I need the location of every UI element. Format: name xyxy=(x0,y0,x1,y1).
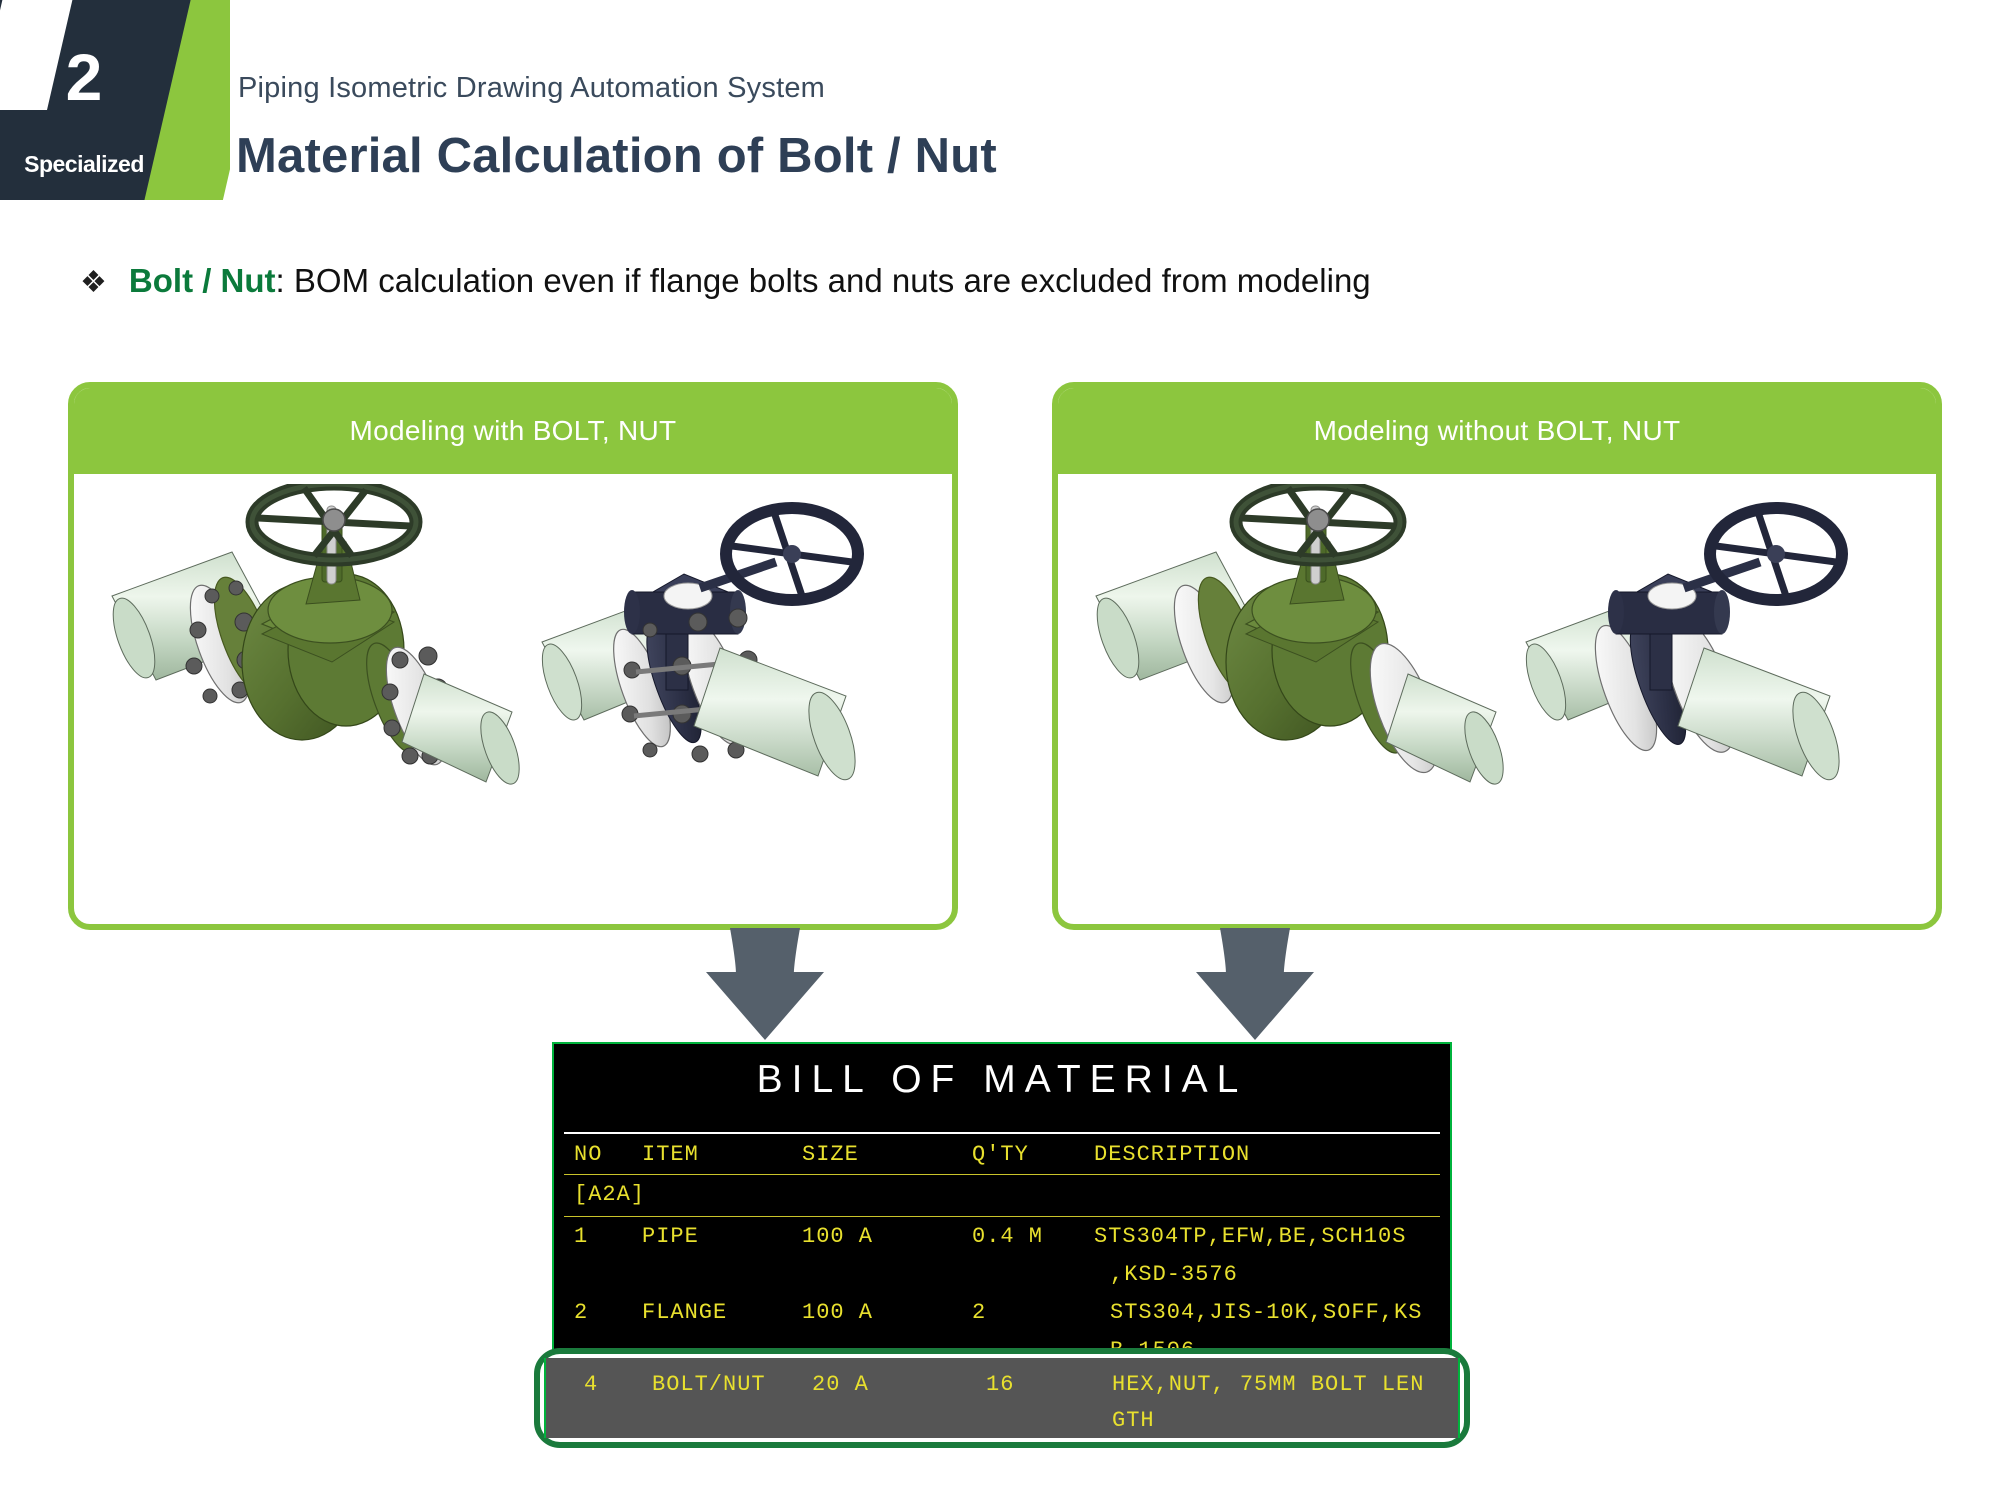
bom-cell-no: 4 xyxy=(584,1372,598,1397)
bom-title-divider xyxy=(564,1132,1440,1134)
bom-cell-desc-line2: GTH xyxy=(1112,1408,1155,1433)
bom-col-size: SIZE xyxy=(802,1142,859,1167)
bom-cell-desc: STS304TP,EFW,BE,SCH10S xyxy=(1094,1224,1406,1249)
bullet-text: : BOM calculation even if flange bolts a… xyxy=(276,262,1371,300)
bom-col-item: ITEM xyxy=(642,1142,699,1167)
bom-col-no: NO xyxy=(574,1142,602,1167)
flanged-valve-with-bolts-illustration xyxy=(524,492,934,812)
bom-cell-size: 100 A xyxy=(802,1224,873,1249)
bom-col-desc: DESCRIPTION xyxy=(1094,1142,1250,1167)
badge-label: Specialized xyxy=(0,152,168,176)
bom-divider-1 xyxy=(564,1174,1440,1175)
page-header: 2 Specialized Piping Isometric Drawing A… xyxy=(0,0,2000,200)
bom-cell-desc-line2: ,KSD-3576 xyxy=(1110,1262,1238,1287)
bom-title: BILL OF MATERIAL xyxy=(554,1058,1450,1102)
bolt-nut-row-band: 4 BOLT/NUT 20 A 16 HEX,NUT, 75MM BOLT LE… xyxy=(544,1358,1460,1438)
badge-number: 2 xyxy=(0,44,168,110)
bom-cell-no: 2 xyxy=(574,1300,588,1325)
bom-cell-no: 1 xyxy=(574,1224,588,1249)
gate-valve-with-bolts-illustration xyxy=(94,484,524,814)
header-eyebrow: Piping Isometric Drawing Automation Syst… xyxy=(238,72,825,105)
diamond-bullet-icon: ❖ xyxy=(80,268,107,298)
bom-cell-item: BOLT/NUT xyxy=(652,1372,766,1397)
panel-modeling-without-bolt-nut: Modeling without BOLT, NUT xyxy=(1052,382,1942,930)
bom-cell-size: 100 A xyxy=(802,1300,873,1325)
bom-group-label: [A2A] xyxy=(574,1182,645,1207)
section-badge: 2 Specialized xyxy=(0,0,230,200)
bom-cell-qty: 2 xyxy=(972,1300,986,1325)
panel-modeling-with-bolt-nut: Modeling with BOLT, NUT xyxy=(68,382,958,930)
bom-cell-qty: 0.4 M xyxy=(972,1224,1043,1249)
panel-right-body xyxy=(1058,474,1936,924)
panel-right-header: Modeling without BOLT, NUT xyxy=(1058,388,1936,474)
bom-cell-size: 20 A xyxy=(812,1372,869,1397)
gate-valve-without-bolts-illustration xyxy=(1078,484,1508,814)
bom-divider-2 xyxy=(564,1216,1440,1217)
bom-cell-item: PIPE xyxy=(642,1224,699,1249)
panel-left-title: Modeling with BOLT, NUT xyxy=(350,415,677,447)
page-title: Material Calculation of Bolt / Nut xyxy=(236,128,997,184)
arrow-down-left-icon xyxy=(690,928,840,1043)
bom-cell-desc: STS304,JIS-10K,SOFF,KS xyxy=(1110,1300,1422,1325)
bom-cell-desc: HEX,NUT, 75MM BOLT LEN xyxy=(1112,1372,1424,1397)
bullet-keyword: Bolt / Nut xyxy=(129,262,276,300)
panel-left-header: Modeling with BOLT, NUT xyxy=(74,388,952,474)
panel-right-title: Modeling without BOLT, NUT xyxy=(1314,415,1681,447)
bom-cell-qty: 16 xyxy=(986,1372,1014,1397)
bom-cell-item: FLANGE xyxy=(642,1300,727,1325)
arrow-down-right-icon xyxy=(1180,928,1330,1043)
bullet-line: ❖ Bolt / Nut : BOM calculation even if f… xyxy=(80,262,1371,300)
flanged-valve-without-bolts-illustration xyxy=(1508,492,1918,812)
panel-left-body xyxy=(74,474,952,924)
bom-col-qty: Q'TY xyxy=(972,1142,1029,1167)
